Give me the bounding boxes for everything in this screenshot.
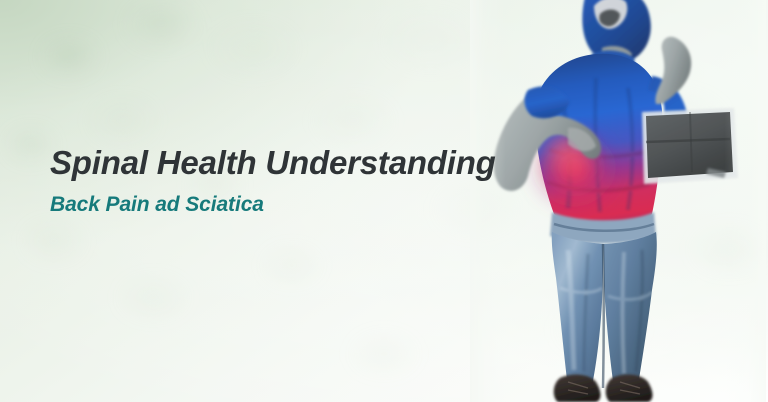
page-title: Spinal Health Understanding (50, 143, 520, 183)
page-subtitle: Back Pain ad Sciatica (50, 192, 520, 218)
spinal-health-banner: Spinal Health Understanding Back Pain ad… (0, 0, 768, 402)
headline-block: Spinal Health Understanding Back Pain ad… (50, 143, 520, 218)
